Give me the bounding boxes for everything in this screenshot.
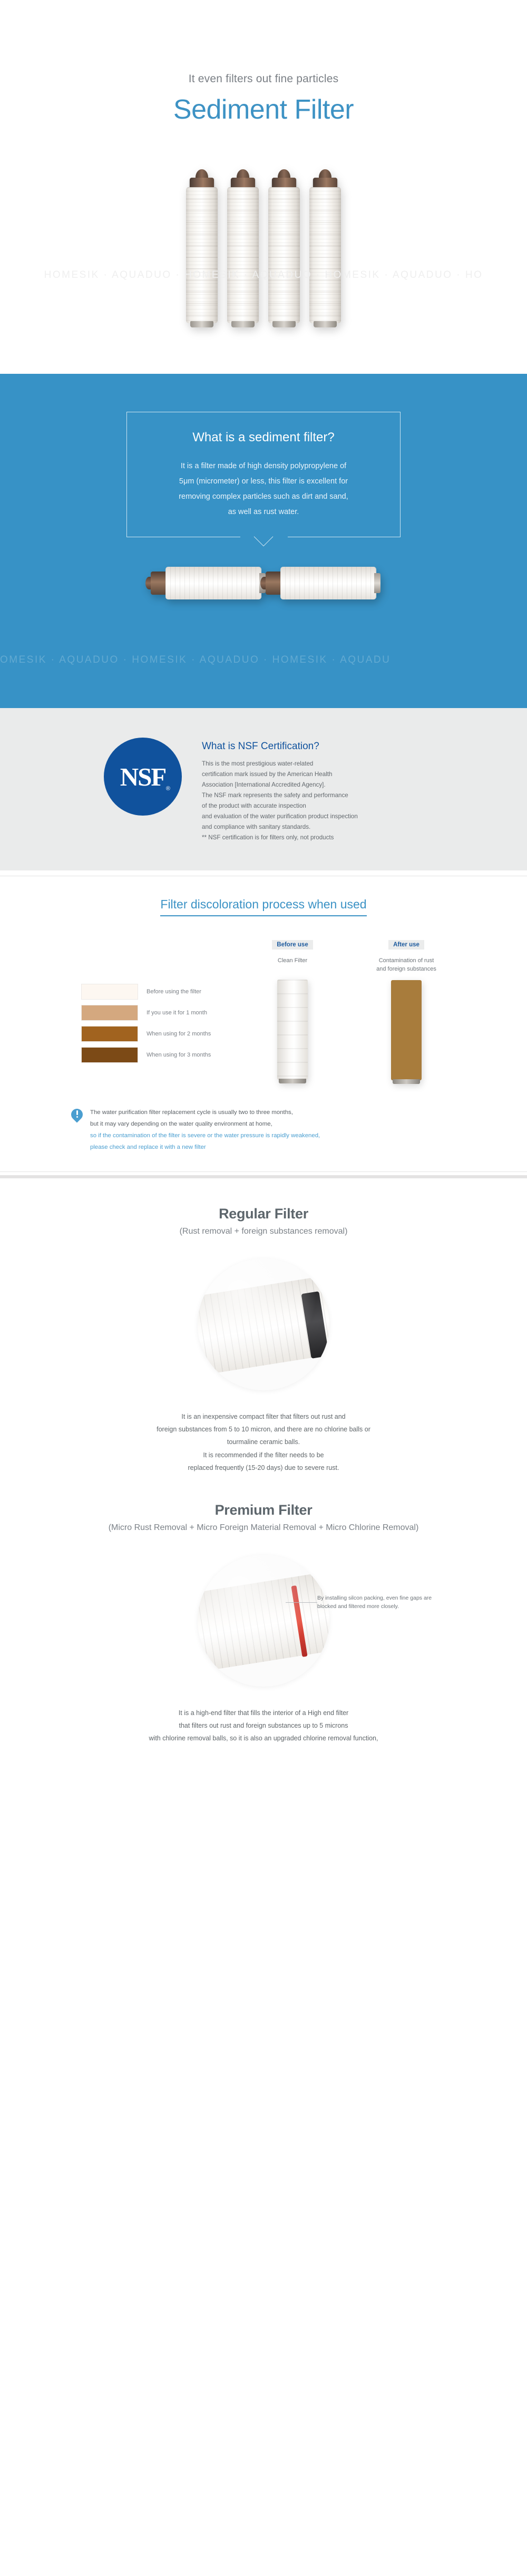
filter-cartridge [227,166,259,324]
filter-cartridge-group [186,166,341,324]
color-swatch [81,984,138,1000]
swatch-label: Before using the filter [147,989,201,995]
nsf-certification-section: NSF ® What is NSF Certification? This is… [0,708,527,870]
annotation-leader-line [286,1602,317,1603]
desc-line: that filters out rust and foreign substa… [0,1719,527,1732]
exclamation-drop-icon [71,1108,83,1124]
discoloration-grid: Before using the filter If you use it fo… [0,922,527,1086]
before-use-badge: Before use [272,940,313,950]
cartridge-body [280,567,376,599]
cartridge-body [227,187,259,323]
notice-line: but it may vary depending on the water q… [90,1118,320,1130]
swatch-label: When using for 3 months [147,1052,211,1058]
regular-filter-subtitle: (Rust removal + foreign substances remov… [0,1227,527,1236]
filter-cartridge-horizontal [266,567,376,599]
filter-cartridge [309,166,341,324]
desc-line: with chlorine removal balls, so it is al… [0,1732,527,1745]
premium-filter-subtitle: (Micro Rust Removal + Micro Foreign Mate… [0,1523,527,1533]
highlight-overlay [198,1555,329,1687]
swatch-row: Before using the filter [81,984,234,1000]
nsf-title: What is NSF Certification? [202,741,423,752]
exclamation-dot [76,1116,78,1118]
notice-wrap: The water purification filter replacemen… [0,1086,527,1154]
premium-filter-title: Premium Filter [0,1502,527,1518]
filter-cartridge-horizontal [151,567,261,599]
divider [0,1171,527,1172]
color-swatch [81,1005,138,1021]
hero-product-photo: HOMESIK · AQUADUO · HOMESIK · AQUADUO · … [0,147,527,374]
replacement-notice: The water purification filter replacemen… [71,1107,456,1154]
nsf-registered-mark: ® [166,786,170,792]
regular-filter-image [198,1258,329,1390]
nsf-line: of the product with accurate inspection [202,801,423,811]
nsf-line: This is the most prestigious water-relat… [202,759,423,769]
before-use-caption: Clean Filter [253,956,332,973]
discoloration-section: Filter discoloration process when used B… [0,870,527,1178]
nsf-text-block: What is NSF Certification? This is the m… [202,738,423,843]
nsf-body: This is the most prestigious water-relat… [202,759,423,843]
after-use-item: After use Contamination of rust and fore… [367,940,446,1080]
cartridge-foot-icon [231,321,255,327]
cartridge-foot-icon [190,321,213,327]
callout-line: as well as rust water. [141,505,386,520]
bottom-spacer [0,1745,527,1775]
watermark-text: OMESIK · AQUADUO · HOMESIK · AQUADUO · H… [0,654,527,666]
cartridge-body [165,567,261,599]
discoloration-title-wrap: Filter discoloration process when used [0,876,527,922]
desc-line: tourmaline ceramic balls. [0,1436,527,1448]
callout-body: It is a filter made of high density poly… [141,459,386,520]
nsf-line: certification mark issued by the America… [202,769,423,780]
cartridge-foot-icon [374,573,380,593]
desc-line: foreign substances from 5 to 10 micron, … [0,1423,527,1436]
page-title: Sediment Filter [0,95,527,125]
cartridge-foot-icon [314,321,337,327]
desc-line: replaced frequently (15-20 days) due to … [0,1461,527,1474]
after-use-caption-line: and foreign substances [367,965,446,974]
blue-product-photo: OMESIK · AQUADUO · HOMESIK · AQUADUO · H… [0,555,527,708]
nsf-disclaimer: ** NSF certification is for filters only… [202,832,423,843]
notice-line-highlight: please check and replace it with a new f… [90,1141,320,1153]
swatch-row: When using for 2 months [81,1026,234,1042]
swatch-list: Before using the filter If you use it fo… [81,940,234,1080]
callout-line: 5μm (micrometer) or less, this filter is… [141,474,386,489]
filter-cartridge [268,166,300,324]
divider-group [0,1154,527,1178]
after-use-caption-line: Contamination of rust [367,956,446,965]
cartridge-body [309,187,341,323]
notice-text: The water purification filter replacemen… [90,1107,320,1154]
highlight-overlay [198,1258,329,1390]
swatch-row: When using for 3 months [81,1047,234,1063]
horizontal-cartridge-group [151,567,376,599]
callout-line: removing complex particles such as dirt … [141,489,386,505]
before-use-item: Before use Clean Filter [253,940,332,1080]
cartridge-body [268,187,300,323]
cartridge-body [186,187,218,323]
callout-title: What is a sediment filter? [141,430,386,445]
exclamation-bar [76,1110,78,1115]
color-swatch [81,1047,138,1063]
regular-filter-title: Regular Filter [0,1206,527,1222]
regular-filter-section: Regular Filter (Rust removal + foreign s… [0,1178,527,1475]
swatch-row: If you use it for 1 month [81,1005,234,1021]
desc-line: It is recommended if the filter needs to… [0,1449,527,1461]
premium-filter-image [198,1555,329,1687]
filter-cartridge [186,166,218,324]
desc-line: It is a high-end filter that fills the i… [0,1707,527,1719]
callout-pointer-icon [254,527,274,547]
sediment-filter-info-section: What is a sediment filter? It is a filte… [0,374,527,708]
contaminated-filter-image [391,980,422,1080]
swatch-label: If you use it for 1 month [147,1010,207,1016]
callout-line: It is a filter made of high density poly… [141,459,386,474]
after-use-badge: After use [388,940,424,950]
regular-filter-photo [0,1247,527,1405]
after-use-caption: Contamination of rust and foreign substa… [367,956,446,974]
desc-line: It is an inexpensive compact filter that… [0,1410,527,1423]
notice-line-highlight: so if the contamination of the filter is… [90,1130,320,1141]
hero-section: It even filters out fine particles Sedim… [0,0,527,374]
premium-filter-section: Premium Filter (Micro Rust Removal + Mic… [0,1475,527,1775]
cartridge-foot-icon [272,321,296,327]
annotation-line: blocked and filtered more closely. [317,1602,438,1611]
nsf-logo-icon: NSF ® [104,738,182,816]
color-swatch [81,1026,138,1042]
premium-filter-description: It is a high-end filter that fills the i… [0,1701,527,1745]
nsf-line: and compliance with sanitary standards. [202,822,423,832]
premium-filter-photo: By installing silcon packing, even fine … [0,1543,527,1701]
nsf-line: Association [International Accredited Ag… [202,780,423,790]
nsf-line: and evaluation of the water purification… [202,811,423,822]
section-title: Filter discoloration process when used [160,897,366,916]
swatch-label: When using for 2 months [147,1031,211,1037]
nsf-line: The NSF mark represents the safety and p… [202,790,423,801]
regular-filter-description: It is an inexpensive compact filter that… [0,1405,527,1475]
before-after-comparison: Before use Clean Filter After use Contam… [253,940,446,1080]
premium-filter-annotation: By installing silcon packing, even fine … [317,1594,438,1612]
nsf-badge-letters: NSF [120,762,166,792]
hero-subtitle: It even filters out fine particles [0,73,527,85]
annotation-line: By installing silcon packing, even fine … [317,1594,438,1603]
clean-filter-image [277,980,308,1080]
sediment-filter-callout: What is a sediment filter? It is a filte… [126,412,401,537]
notice-line: The water purification filter replacemen… [90,1107,320,1118]
